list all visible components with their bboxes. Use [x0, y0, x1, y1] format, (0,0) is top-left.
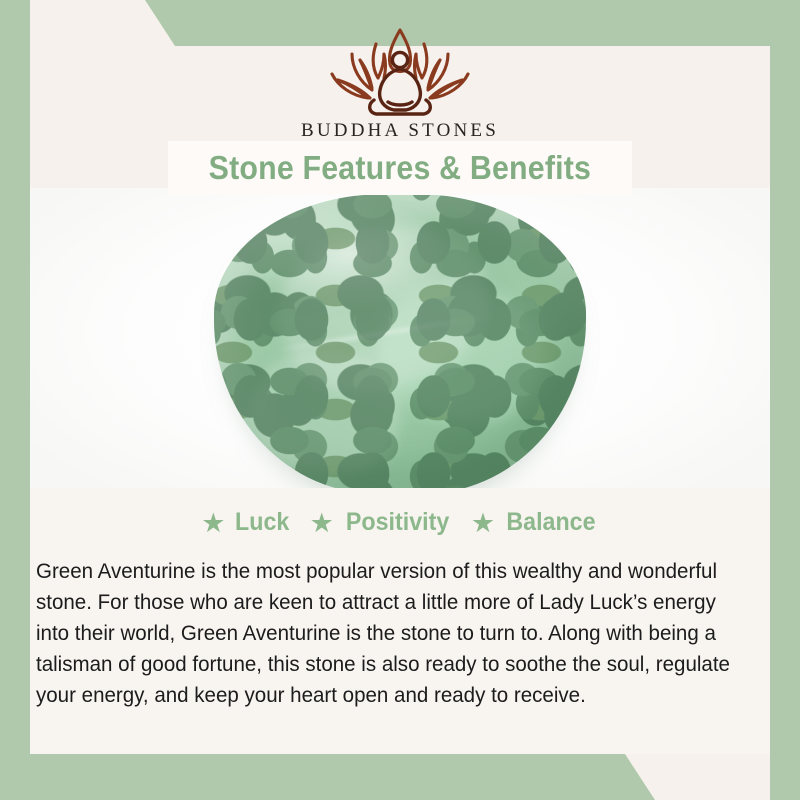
feature-item-positivity: ★ Positivity — [310, 508, 453, 537]
infographic-page: BUDDHA STONES Stone Features & Benefits … — [0, 0, 800, 800]
description-text: Green Aventurine is the most popular ver… — [36, 556, 731, 711]
page-title: Stone Features & Benefits — [209, 149, 592, 187]
feature-label-positivity: Positivity — [346, 508, 449, 537]
brand-logo: BUDDHA STONES — [0, 22, 800, 142]
star-icon: ★ — [310, 510, 335, 535]
stone-speckles — [214, 194, 586, 488]
description-section: ★ Luck ★ Positivity ★ Balance Green Aven… — [30, 488, 770, 754]
green-aventurine-stone-image — [214, 194, 586, 488]
feature-list: ★ Luck ★ Positivity ★ Balance — [30, 508, 770, 537]
star-icon: ★ — [471, 510, 496, 535]
feature-item-luck: ★ Luck — [201, 508, 291, 537]
lotus-meditation-icon — [312, 22, 488, 118]
feature-label-luck: Luck — [235, 508, 289, 537]
feature-label-balance: Balance — [506, 508, 595, 537]
star-icon: ★ — [201, 510, 226, 535]
section-title-banner: Stone Features & Benefits — [168, 141, 632, 195]
stone-photo: Green Aventurine — [30, 188, 770, 488]
feature-item-balance: ★ Balance — [471, 508, 599, 537]
brand-name: BUDDHA STONES — [0, 120, 800, 142]
stone-body — [214, 194, 586, 488]
